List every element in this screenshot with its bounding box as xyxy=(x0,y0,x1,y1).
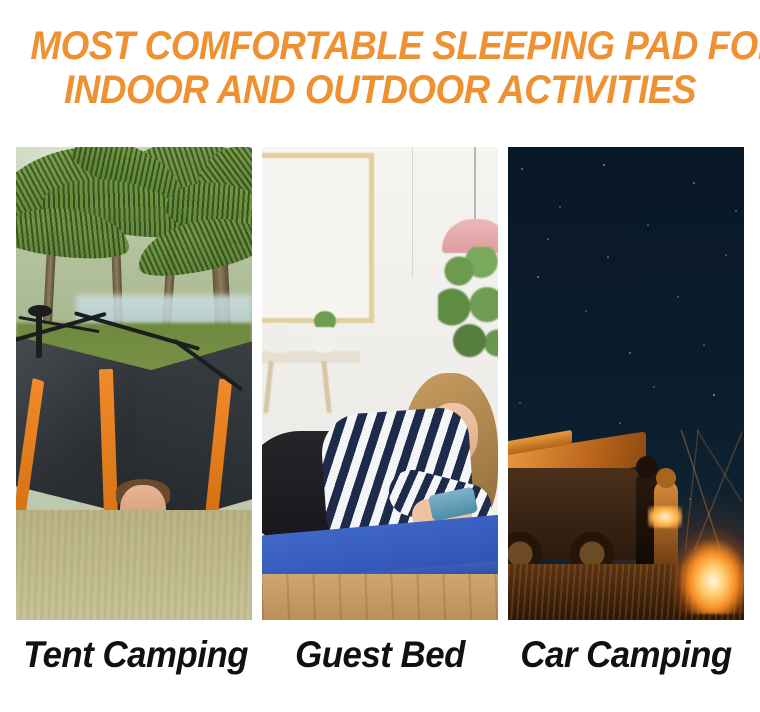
panel-car-camping[interactable] xyxy=(508,147,744,620)
headline-line-2: INDOOR AND OUTDOOR ACTIVITIES xyxy=(30,68,729,112)
headline-line-1: MOST COMFORTABLE SLEEPING PAD FOR xyxy=(30,24,729,68)
picture-frame xyxy=(262,153,374,323)
house-plant-icon xyxy=(438,247,498,367)
panel-tent-camping[interactable] xyxy=(16,147,252,620)
person-head xyxy=(636,456,658,478)
lamp-cord xyxy=(474,147,476,223)
product-banner: MOST COMFORTABLE SLEEPING PAD FOR INDOOR… xyxy=(0,0,760,712)
wooden-floor xyxy=(262,574,498,620)
decor-vase xyxy=(312,327,336,353)
decor-vase xyxy=(264,323,292,353)
caption-tent-camping: Tent Camping xyxy=(23,626,245,694)
wall-edge-line xyxy=(412,147,413,277)
campfire-icon xyxy=(668,504,744,614)
caption-row: Tent Camping Guest Bed Car Camping xyxy=(16,626,744,694)
foreground-grass xyxy=(16,510,252,620)
tent-pole xyxy=(36,312,42,358)
panel-gallery xyxy=(16,147,744,620)
person-head xyxy=(656,468,676,488)
page-title: MOST COMFORTABLE SLEEPING PAD FOR INDOOR… xyxy=(30,24,729,112)
caption-car-camping: Car Camping xyxy=(515,626,737,694)
panel-guest-bed[interactable] xyxy=(262,147,498,620)
caption-guest-bed: Guest Bed xyxy=(269,626,491,694)
